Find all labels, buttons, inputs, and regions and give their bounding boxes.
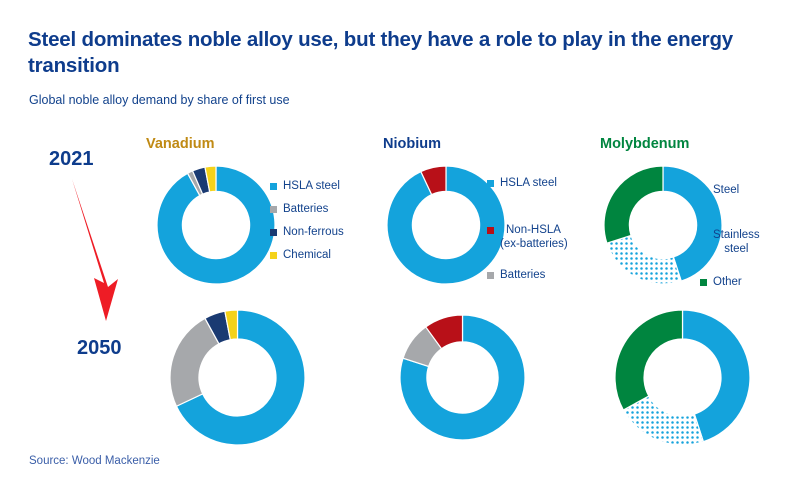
row-label-2021: 2021 <box>49 148 94 171</box>
legend-label: Chemical <box>283 248 331 262</box>
legend-swatch-non-hsla <box>487 227 494 234</box>
legend-swatch-other <box>700 279 707 286</box>
legend-swatch-stainless-steel <box>700 232 707 239</box>
donut-vanadium-2050 <box>170 310 305 445</box>
pie-slice <box>607 235 681 284</box>
legend-swatch-hsla-steel <box>270 183 277 190</box>
column-title-vanadium: Vanadium <box>146 136 215 152</box>
donut-niobium-2050 <box>400 315 525 440</box>
column-title-molybdenum: Molybdenum <box>600 136 689 152</box>
legend-item[interactable]: Steel <box>700 183 760 197</box>
legend-label: HSLA steel <box>500 176 557 190</box>
legend-item[interactable]: HSLA steel <box>487 176 568 190</box>
legend-swatch-chemical <box>270 252 277 259</box>
legend-swatch-batteries <box>270 206 277 213</box>
legend-swatch-steel <box>700 187 707 194</box>
legend-niobium: HSLA steel Non-HSLA (ex-batteries) Batte… <box>487 176 568 291</box>
legend-item[interactable]: Batteries <box>487 268 568 282</box>
page-title: Steel dominates noble alloy use, but the… <box>28 27 753 79</box>
legend-item[interactable]: Stainless steel <box>700 228 760 256</box>
legend-item[interactable]: Other <box>700 275 760 289</box>
legend-molybdenum: Steel Stainless steel Other <box>700 183 760 298</box>
legend-item[interactable]: Non-HSLA (ex-batteries) <box>487 223 568 251</box>
legend-item[interactable]: HSLA steel <box>270 179 344 193</box>
pie-slice <box>615 310 683 410</box>
chart-canvas: Steel dominates noble alloy use, but the… <box>0 0 800 480</box>
legend-swatch-non-ferrous <box>270 229 277 236</box>
legend-label: Batteries <box>283 202 328 216</box>
legend-item[interactable]: Chemical <box>270 248 344 262</box>
page-subtitle: Global noble alloy demand by share of fi… <box>29 93 290 107</box>
legend-swatch-batteries <box>487 272 494 279</box>
legend-label: Steel <box>713 183 739 197</box>
source-note: Source: Wood Mackenzie <box>29 455 160 467</box>
donut-vanadium-2021 <box>157 166 275 284</box>
legend-label: Non-HSLA <box>500 223 568 237</box>
legend-label: Other <box>713 275 742 289</box>
legend-vanadium: HSLA steel Batteries Non-ferrous Chemica… <box>270 179 344 271</box>
legend-label-line2: steel <box>713 242 760 256</box>
legend-label: Non-ferrous <box>283 225 344 239</box>
legend-item[interactable]: Non-ferrous <box>270 225 344 239</box>
column-title-niobium: Niobium <box>383 136 441 152</box>
legend-item[interactable]: Batteries <box>270 202 344 216</box>
legend-label: Batteries <box>500 268 545 282</box>
donut-molybdenum-2050 <box>615 310 750 445</box>
legend-label: Stainless <box>713 228 760 242</box>
pie-slice <box>604 166 663 243</box>
trend-arrow-icon <box>60 175 150 325</box>
row-label-2050: 2050 <box>77 337 122 360</box>
legend-label: HSLA steel <box>283 179 340 193</box>
legend-swatch-hsla-steel <box>487 180 494 187</box>
legend-label-line2: (ex-batteries) <box>500 237 568 251</box>
